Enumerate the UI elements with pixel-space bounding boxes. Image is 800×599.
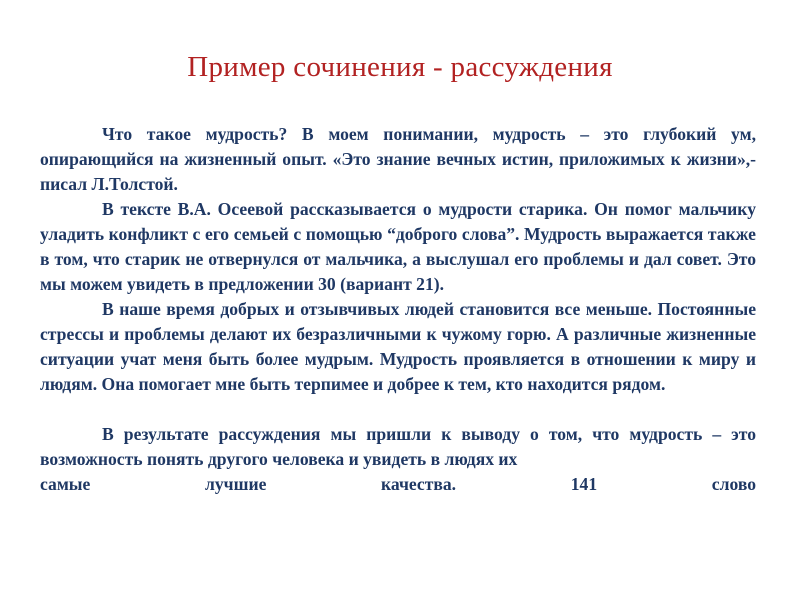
slide-canvas: Пример сочинения - рассуждения Что такое… bbox=[0, 0, 800, 599]
paragraph-3: В наше время добрых и отзывчивых людей с… bbox=[40, 297, 756, 397]
essay-body: Что такое мудрость? В моем понимании, му… bbox=[40, 122, 756, 522]
conclusion-text: В результате рассуждения мы пришли к выв… bbox=[40, 424, 756, 469]
page-title: Пример сочинения - рассуждения bbox=[0, 52, 800, 84]
conclusion-final-line: самые лучшие качества. 141 слово bbox=[40, 472, 756, 522]
paragraph-2: В тексте В.А. Осеевой рассказывается о м… bbox=[40, 197, 756, 297]
word-count-label: 141 слово bbox=[571, 474, 756, 494]
conclusion-tail-text: самые лучшие качества. bbox=[40, 474, 456, 494]
paragraph-1: Что такое мудрость? В моем понимании, му… bbox=[40, 122, 756, 197]
paragraph-4-conclusion: В результате рассуждения мы пришли к выв… bbox=[40, 422, 756, 522]
